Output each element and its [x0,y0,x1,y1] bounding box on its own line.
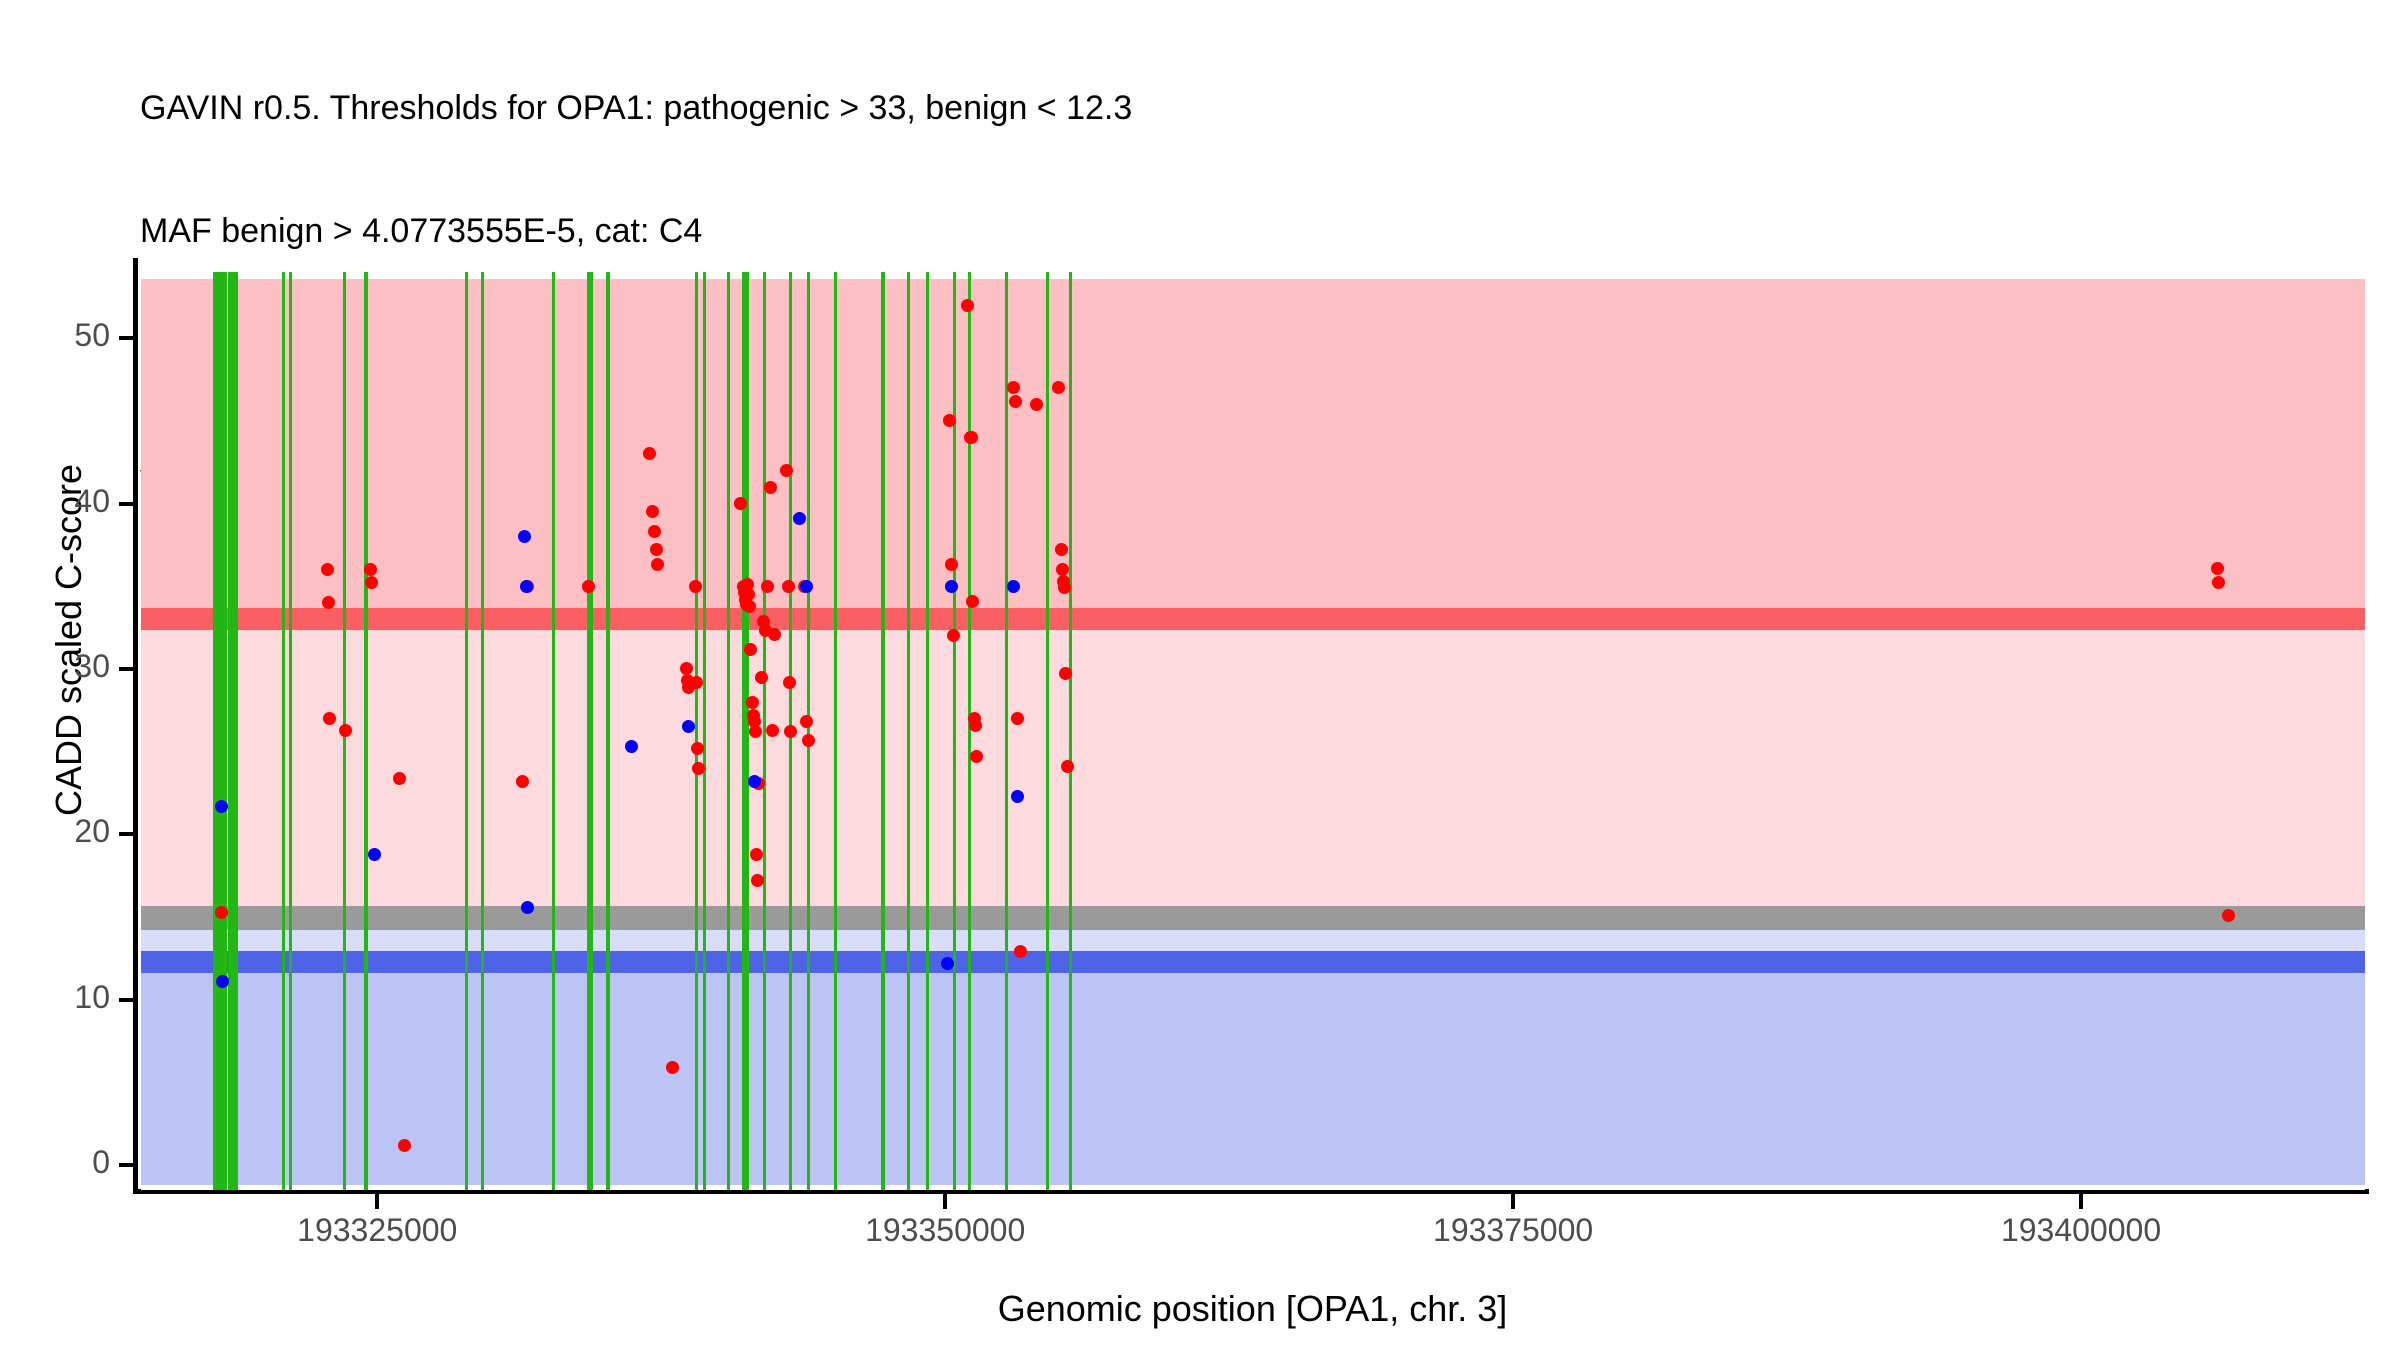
point-gnomad [1007,580,1020,593]
x-tick [1511,1194,1515,1209]
point-gnomad [941,957,954,970]
title-line-1: GAVIN r0.5. Thresholds for OPA1: pathoge… [140,88,2340,129]
exon-line [703,272,706,1190]
point-pathogenic [1030,398,1043,411]
exon-line [807,272,810,1190]
x-tick [375,1194,379,1209]
point-pathogenic [969,719,982,732]
exon-line [465,272,468,1190]
point-pathogenic [648,525,661,538]
y-tick-label: 50 [0,317,110,354]
band-benign-zone [141,962,2365,1185]
exon-line [907,272,910,1190]
x-tick-label: 193375000 [1363,1212,1663,1249]
point-pathogenic [744,643,757,656]
point-pathogenic [2211,562,2224,575]
y-axis-line [133,258,138,1194]
point-gnomad [748,775,761,788]
x-tick-label: 193400000 [1931,1212,2231,1249]
exon-line [834,272,837,1190]
y-tick [119,502,133,506]
exon-line [606,272,610,1190]
benign-threshold-line [141,951,2365,973]
y-tick [119,1163,133,1167]
point-pathogenic [780,464,793,477]
point-pathogenic [398,1139,411,1152]
point-pathogenic [746,696,759,709]
y-tick-label: 40 [0,483,110,520]
plot-panel [141,272,2365,1190]
point-pathogenic [1055,543,1068,556]
exon-line [364,272,368,1190]
point-gnomad [800,580,813,593]
point-gnomad [521,901,534,914]
title-line-2: MAF benign > 4.0773555E-5, cat: C4 [140,211,2340,252]
exon-line [881,272,885,1190]
point-pathogenic [690,676,703,689]
point-pathogenic [339,724,352,737]
exon-line [695,272,698,1190]
exon-line [1046,272,1049,1190]
point-gnomad [520,580,533,593]
point-pathogenic [966,595,979,608]
y-tick [119,832,133,836]
x-tick-label: 193350000 [795,1212,1095,1249]
fallback-threshold-line [141,906,2365,928]
point-pathogenic [750,848,763,861]
exon-line [552,272,555,1190]
point-pathogenic [965,431,978,444]
exon-line [587,272,593,1190]
point-pathogenic [215,906,228,919]
band-vus-upper-zone [141,619,2365,917]
x-tick [2079,1194,2083,1209]
point-pathogenic [646,505,659,518]
exon-line [289,272,292,1190]
point-pathogenic [782,580,795,593]
point-pathogenic [691,742,704,755]
x-tick [943,1194,947,1209]
point-pathogenic [1014,945,1027,958]
y-tick [119,667,133,671]
point-pathogenic [961,299,974,312]
point-pathogenic [768,628,781,641]
point-pathogenic [947,629,960,642]
point-pathogenic [1009,395,1022,408]
pathogenic-threshold-line [141,608,2365,630]
y-tick-label: 10 [0,979,110,1016]
exon-line [481,272,484,1190]
point-pathogenic [582,580,595,593]
point-pathogenic [689,580,702,593]
point-pathogenic [743,600,756,613]
exon-line [282,272,285,1190]
y-tick-label: 30 [0,648,110,685]
exon-line [1005,272,1008,1190]
point-pathogenic [516,775,529,788]
point-pathogenic [692,762,705,775]
x-axis-title: Genomic position [OPA1, chr. 3] [140,1288,2365,1330]
point-pathogenic [802,734,815,747]
point-pathogenic [321,563,334,576]
point-pathogenic [783,676,796,689]
exon-line [926,272,929,1190]
y-tick-label: 20 [0,813,110,850]
exon-line [968,272,971,1190]
exon-line [953,272,956,1190]
exon-line [228,272,238,1190]
x-tick-label: 193325000 [227,1212,527,1249]
point-pathogenic [755,671,768,684]
y-tick-label: 0 [0,1144,110,1181]
exon-line [727,272,730,1190]
y-tick [119,336,133,340]
band-pathogenic-zone [141,279,2365,620]
y-tick [119,998,133,1002]
point-pathogenic [764,481,777,494]
point-gnomad [215,800,228,813]
point-pathogenic [766,724,779,737]
plot-root: GAVIN r0.5. Thresholds for OPA1: pathoge… [0,0,2400,1350]
exon-line [213,272,227,1190]
exon-line [1069,272,1072,1190]
